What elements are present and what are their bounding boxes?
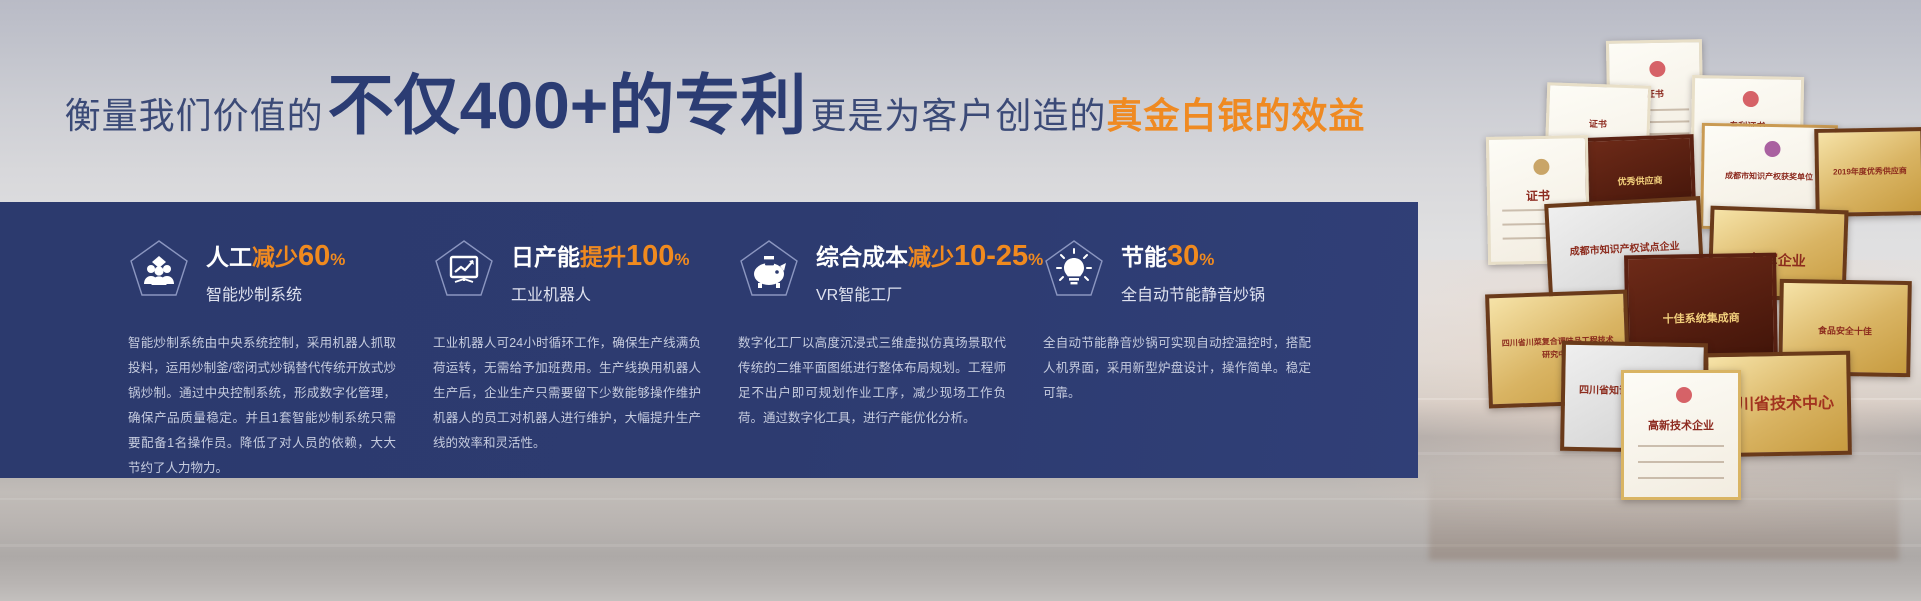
certificate-label: 证书 [1497,186,1578,204]
lightbulb-icon [1043,238,1105,300]
feature-title: 日产能提升100% [511,240,690,273]
certificate-label: 十佳系统集成商 [1641,309,1762,327]
feature-title-unit: % [1028,250,1043,269]
feature-card: 日产能提升100% 工业机器人 工业机器人可24小时循环工作，确保生产线满负荷运… [433,236,738,478]
headline-middle: 更是为客户创造的 [810,87,1106,139]
feature-card: 节能30% 全自动节能静音炒锅 全自动节能静音炒锅可实现自动控温控时，搭配人机界… [1043,236,1348,478]
feature-title-number: 100 [626,240,674,272]
certificate-item: 2019年度优秀供应商 [1814,127,1921,217]
feature-title: 综合成本减少10-25% [816,240,1043,273]
feature-title-highlight: 减少 [908,244,954,270]
feature-body: 数字化工厂以高度沉浸式三维虚拟仿真场景取代传统的二维平面图纸进行整体布局规划。工… [738,331,1006,431]
headline-accent: 真金白银的效益 [1106,87,1365,139]
feature-subtitle: 全自动节能静音炒锅 [1121,281,1265,305]
feature-title-unit: % [330,250,345,269]
certificate-label: 高新技术企业 [1633,417,1729,433]
headline-prefix: 衡量我们价值的 [65,87,324,139]
feature-subtitle: VR智能工厂 [816,281,1043,305]
feature-body: 工业机器人可24小时循环工作，确保生产线满负荷运转，无需给予加班费用。生产线换用… [433,331,701,456]
certificate-label: 2019年度优秀供应商 [1827,165,1913,177]
people-group-icon [128,238,190,300]
feature-title-number: 30 [1167,240,1199,272]
certificate-label: 优秀供应商 [1597,173,1683,189]
headline-strong: 不仅400+的专利 [324,72,811,138]
feature-body: 全自动节能静音炒锅可实现自动控温控时，搭配人机界面，采用新型炉盘设计，操作简单。… [1043,331,1311,406]
feature-title: 节能30% [1121,240,1265,273]
certificate-label: 证书 [1557,116,1640,132]
page-headline: 衡量我们价值的 不仅400+的专利 更是为客户创造的 真金白银的效益 [0,72,1430,152]
feature-subtitle: 智能炒制系统 [206,281,345,305]
feature-title: 人工减少60% [206,240,345,273]
feature-title-number: 60 [298,240,330,272]
feature-title-prefix: 节能 [1121,244,1167,270]
feature-title-prefix: 日产能 [511,244,580,270]
piggy-bank-icon [738,238,800,300]
feature-title-number: 10-25 [954,240,1028,272]
feature-title-unit: % [1199,250,1214,269]
feature-title-prefix: 综合成本 [816,244,908,270]
feature-title-highlight: 减少 [252,244,298,270]
feature-subtitle: 工业机器人 [511,281,690,305]
certificate-item: 高新技术企业 [1621,370,1741,500]
feature-body: 智能炒制系统由中央系统控制，采用机器人抓取投料，运用炒制釜/密闭式炒锅替代传统开… [128,331,396,481]
feature-title-prefix: 人工 [206,244,252,270]
feature-title-highlight: 提升 [580,244,626,270]
certificate-label: 成都市知识产权获奖单位 [1714,170,1823,183]
features-panel: 人工减少60% 智能炒制系统 智能炒制系统由中央系统控制，采用机器人抓取投料，运… [0,202,1418,478]
certificates-collage: 证书 证书 专利证书 优秀供应商 证书 成都市知识产权获奖单位 2019年度优秀… [1429,40,1899,510]
chart-board-icon [433,238,495,300]
feature-card: 综合成本减少10-25% VR智能工厂 数字化工厂以高度沉浸式三维虚拟仿真场景取… [738,236,1043,478]
feature-card: 人工减少60% 智能炒制系统 智能炒制系统由中央系统控制，采用机器人抓取投料，运… [128,236,433,478]
certificate-label: 食品安全十佳 [1793,323,1897,338]
feature-title-unit: % [674,250,689,269]
